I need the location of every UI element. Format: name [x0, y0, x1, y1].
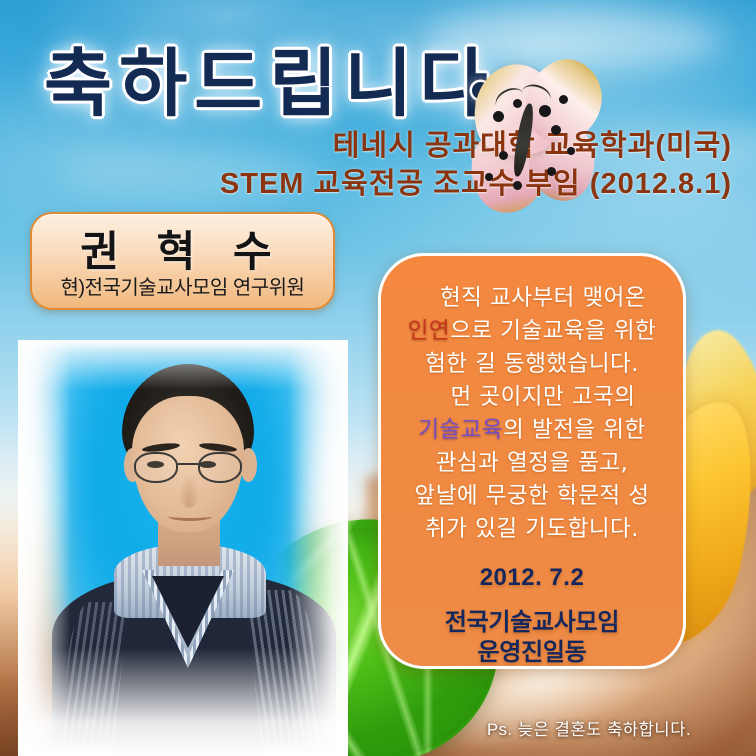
message-segment: 현직 교사부터 맺어온 — [440, 285, 646, 311]
message-segment: 으로 기술교육을 위한 — [450, 318, 656, 344]
butterfly-spot — [499, 151, 508, 160]
message-segment: 험한 길 동행했습니다. — [425, 351, 639, 377]
portrait-photo — [18, 340, 348, 756]
butterfly-spot — [485, 173, 493, 181]
glasses-lens-left — [134, 452, 178, 483]
badge-affiliation: 현)전국기술교사모임 연구위원 — [32, 271, 333, 300]
message-segment: 관심과 열정을 품고, — [436, 450, 629, 476]
message-line: 험한 길 동행했습니다. — [395, 348, 669, 381]
butterfly-spot — [559, 95, 568, 104]
congratulation-poster: 축하드립니다 테네시 공과대학 교육학과(미국) STEM 교육전공 조교수 부… — [0, 0, 756, 756]
subtitle-line-1: 테네시 공과대학 교육학과(미국) — [333, 122, 732, 164]
message-line: 관심과 열정을 품고, — [395, 447, 669, 480]
message-line: 인연으로 기술교육을 위한 — [395, 315, 669, 348]
message-line: 기술교육의 발전을 위한 — [395, 414, 669, 447]
subtitle-line-2: STEM 교육전공 조교수 부임 (2012.8.1) — [220, 160, 732, 202]
message-line: 앞날에 무궁한 학문적 성 — [395, 480, 669, 513]
message-segment: 취가 있길 기도합니다. — [425, 516, 639, 542]
message-body: 현직 교사부터 맺어온인연으로 기술교육을 위한험한 길 동행했습니다.먼 곳이… — [395, 282, 669, 546]
message-line: 취가 있길 기도합니다. — [395, 513, 669, 546]
glasses-lens-right — [198, 452, 242, 483]
page-title: 축하드립니다 — [44, 24, 494, 131]
butterfly-spot — [547, 167, 556, 176]
portrait-mouth — [168, 512, 212, 521]
message-segment: 기술교육 — [418, 417, 503, 443]
message-date: 2012. 7.2 — [395, 564, 669, 592]
ps-note: Ps. 늦은 결혼도 축하합니다. — [487, 716, 691, 740]
butterfly-spot — [567, 147, 575, 155]
name-badge: 권 혁 수 현)전국기술교사모임 연구위원 — [30, 212, 335, 310]
message-segment: 인연 — [408, 318, 450, 344]
glasses-bridge — [178, 463, 198, 465]
org-line-1: 전국기술교사모임 — [395, 608, 669, 638]
message-line: 먼 곳이지만 고국의 — [395, 381, 669, 414]
badge-person-name: 권 혁 수 — [32, 218, 333, 279]
butterfly-spot — [513, 181, 522, 190]
message-segment: 의 발전을 위한 — [503, 417, 646, 443]
message-card: 현직 교사부터 맺어온인연으로 기술교육을 위한험한 길 동행했습니다.먼 곳이… — [378, 253, 686, 669]
org-line-2: 운영진일동 — [395, 638, 669, 668]
message-segment: 먼 곳이지만 고국의 — [451, 384, 636, 410]
butterfly-spot — [551, 125, 561, 135]
portrait-glasses — [134, 452, 242, 486]
message-organization: 전국기술교사모임 운영진일동 — [395, 608, 669, 668]
message-line: 현직 교사부터 맺어온 — [395, 282, 669, 315]
message-segment: 앞날에 무궁한 학문적 성 — [415, 483, 650, 509]
